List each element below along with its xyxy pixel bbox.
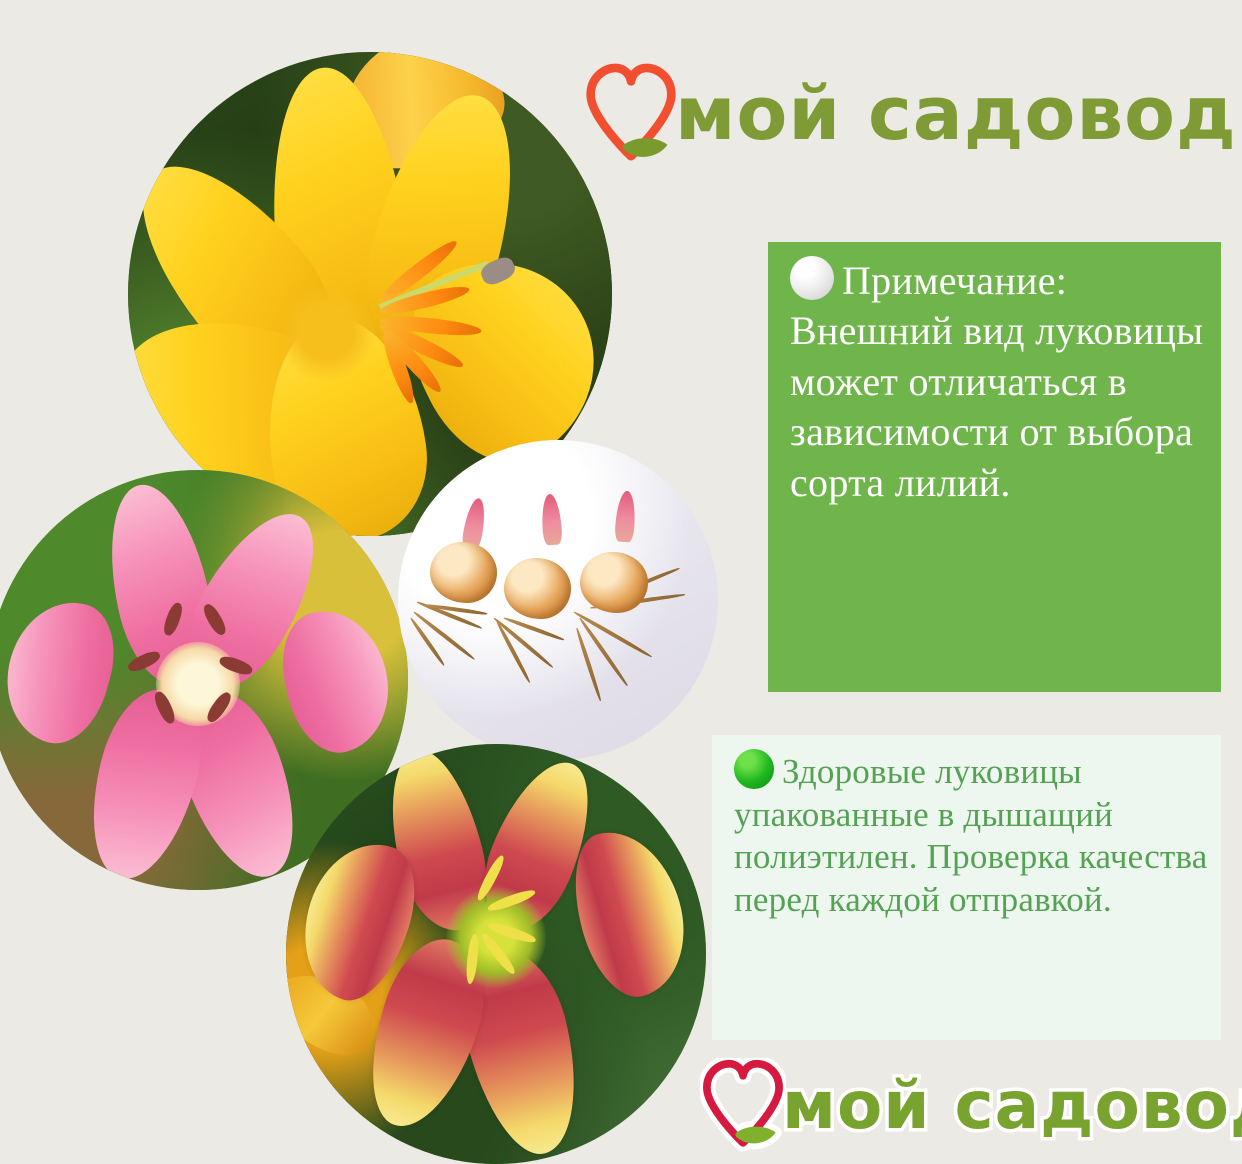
note-text: Примечание: Внешний вид луковицы может о… <box>790 258 1203 505</box>
lily-bulb <box>430 542 497 603</box>
brand-name-top: мой садовод <box>675 71 1237 157</box>
flower-center <box>278 284 375 381</box>
heart-leaf-icon <box>700 1058 786 1152</box>
bicolor-lily-scene <box>286 744 706 1164</box>
quality-text: Здоровые луковицы упакованные в дышащий … <box>734 752 1207 919</box>
lily-bulbs-scene <box>398 440 718 760</box>
note-box: Примечание: Внешний вид луковицы может о… <box>768 242 1221 692</box>
green-circle-bullet-icon <box>734 749 774 789</box>
lily-bulb <box>580 552 647 613</box>
heart-leaf-icon <box>583 62 679 166</box>
bicolor-lily-photo <box>286 744 706 1164</box>
quality-text-wrapper: Здоровые луковицы упакованные в дышащий … <box>712 735 1221 922</box>
brand-logo-bottom[interactable]: мой садовод <box>700 1058 1242 1152</box>
note-text-wrapper: Примечание: Внешний вид луковицы может о… <box>768 242 1221 508</box>
brand-name-bottom: мой садовод <box>782 1067 1242 1144</box>
white-circle-bullet-icon <box>790 256 834 300</box>
quality-box: Здоровые луковицы упакованные в дышащий … <box>712 735 1221 1040</box>
brand-logo-top[interactable]: мой садовод <box>583 62 1237 166</box>
lily-bulbs-photo <box>398 440 718 760</box>
